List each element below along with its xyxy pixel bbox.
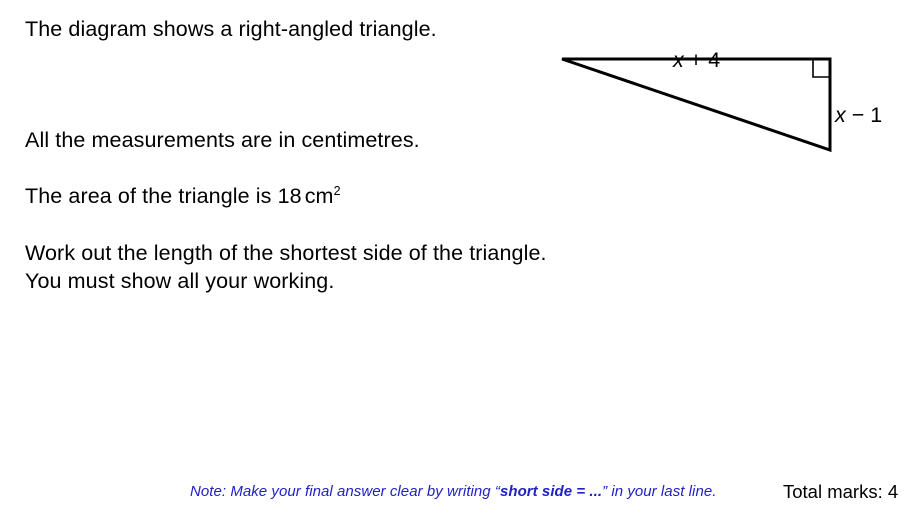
area-unit: cm [305,184,334,208]
question-task-line-2: You must show all your working. [25,268,334,294]
question-area-text: The area of the triangle is 18cm2 [25,183,341,209]
question-page: The diagram shows a right-angled triangl… [0,0,920,520]
triangle-diagram: x + 4 x − 1 [545,20,920,170]
area-text-prefix: The area of the triangle is 18 [25,184,302,208]
top-label-variable: x [673,48,684,72]
question-task-line-1: Work out the length of the shortest side… [25,240,547,266]
triangle-top-side-label: x + 4 [673,48,720,73]
side-label-rest: − 1 [846,103,882,127]
note-bold-answer-format: short side = ... [500,483,602,500]
area-unit-exponent: 2 [334,184,341,198]
note-suffix: ” in your last line. [602,483,716,500]
question-intro-text: The diagram shows a right-angled triangl… [25,16,437,42]
triangle-shape [545,20,920,170]
side-label-variable: x [835,103,846,127]
top-label-rest: + 4 [684,48,720,72]
triangle-right-side-label: x − 1 [835,103,882,128]
answer-format-note: Note: Make your final answer clear by wr… [190,483,716,500]
note-prefix: Note: Make your final answer clear by wr… [190,483,500,500]
right-angle-square-icon [813,60,829,77]
question-units-text: All the measurements are in centimetres. [25,127,420,153]
total-marks-label: Total marks: 4 [783,481,898,503]
